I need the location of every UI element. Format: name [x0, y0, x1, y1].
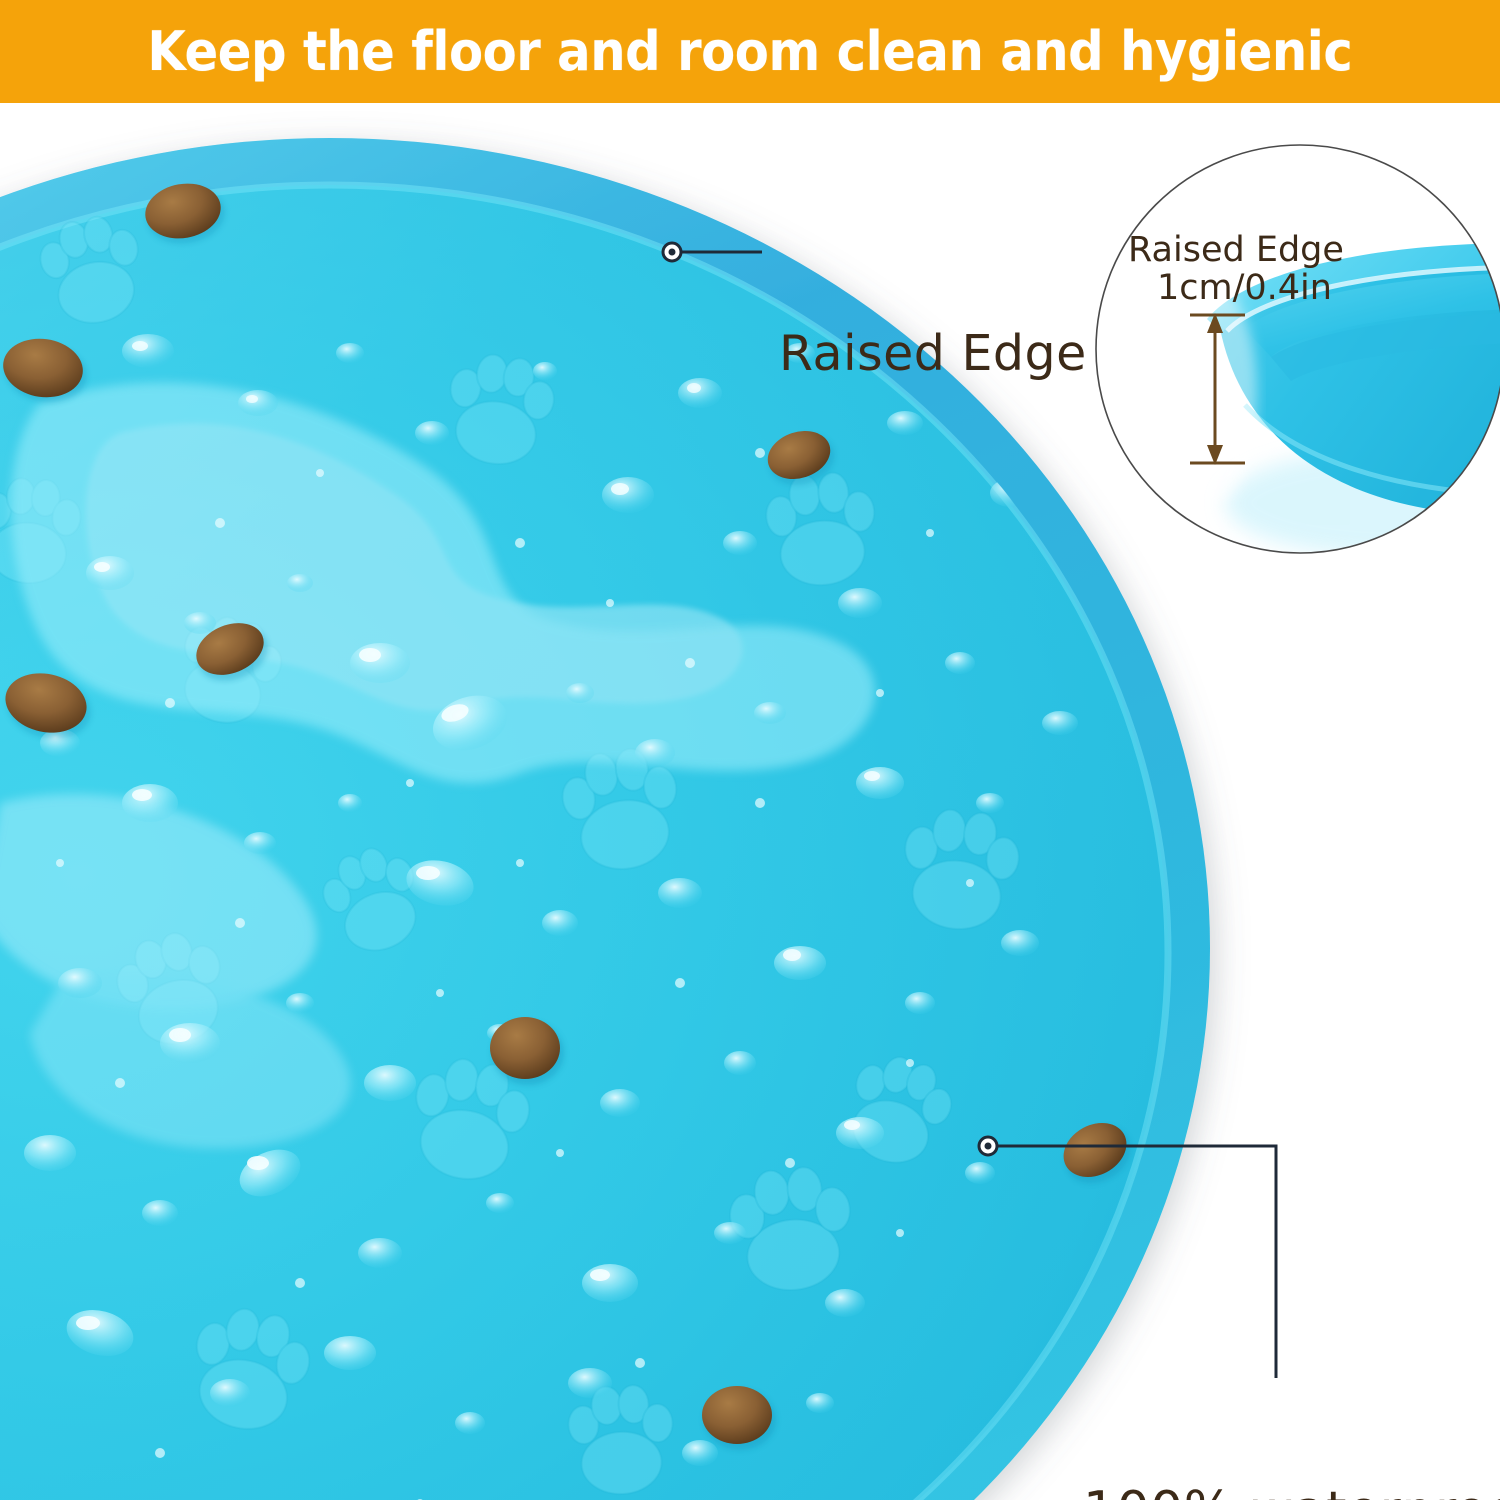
headline-banner: Keep the floor and room clean and hygien…: [0, 0, 1500, 103]
inset-illustration: [1095, 143, 1500, 555]
product-infographic: Keep the floor and room clean and hygien…: [0, 0, 1500, 1500]
inset-measurement: 1cm/0.4in: [1157, 271, 1332, 306]
raised-edge-detail-inset: Raised Edge 1cm/0.4in: [1095, 143, 1500, 555]
callout-label-waterproof: 100% waterproof: [1083, 1481, 1500, 1500]
callout-label-raised-edge: Raised Edge: [779, 325, 1087, 382]
headline-text: Keep the floor and room clean and hygien…: [148, 25, 1353, 79]
inset-title: Raised Edge: [1128, 233, 1344, 268]
